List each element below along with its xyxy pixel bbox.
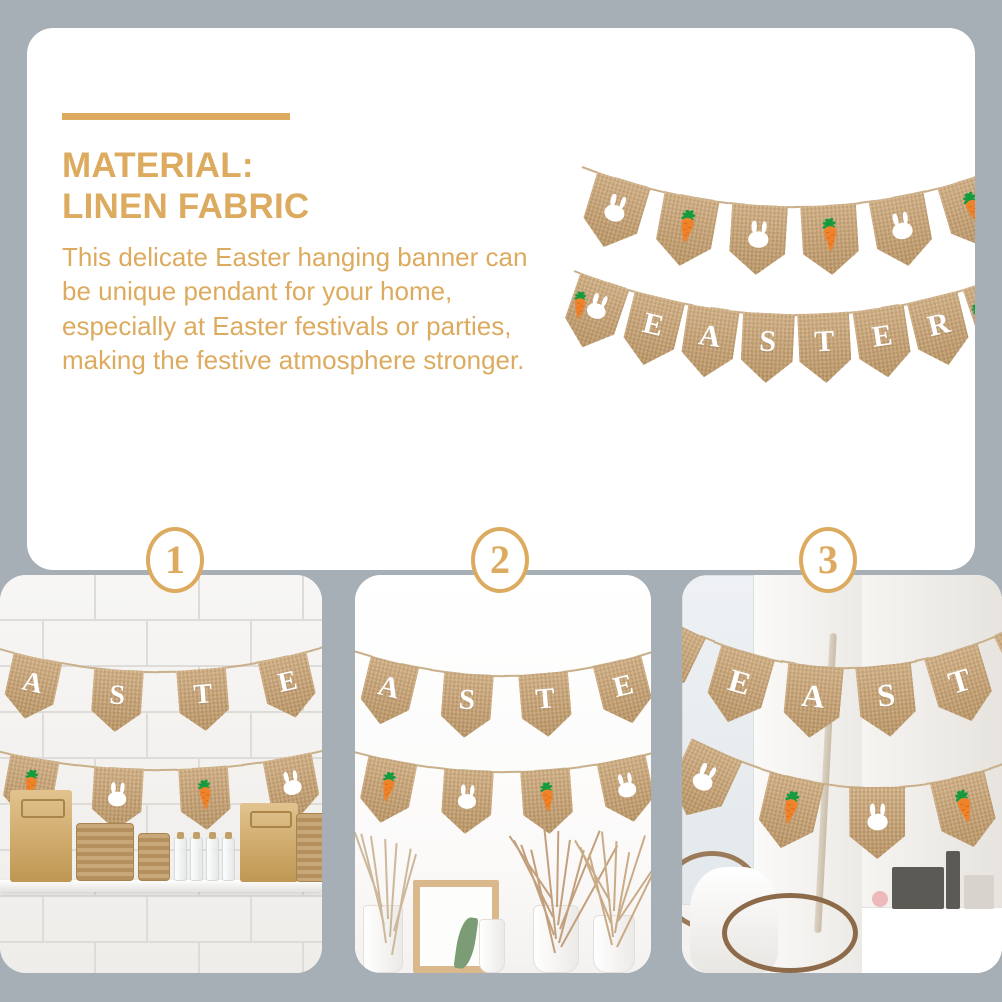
glass-jar [174,837,187,881]
bunting-flag-glyph: R [909,298,970,352]
bunting-flag-glyph: E [622,298,683,352]
dark-decor-object [892,867,944,909]
dried-branch [615,835,646,925]
gallery-panel-2: EASTER [355,575,651,973]
bunting-flag: R [907,291,974,371]
page-title: MATERIAL: LINEN FABRIC [62,146,552,228]
bunting-flag-glyph: T [798,319,852,365]
product-feature-page: MATERIAL: LINEN FABRIC This delicate Eas… [0,0,1002,1002]
hero-card: MATERIAL: LINEN FABRIC This delicate Eas… [27,28,975,570]
bunting-flag-glyph: E [853,311,911,361]
bunting-flag [800,203,860,276]
step-badge-1: 1 [146,527,204,593]
carrot-icon [674,205,700,247]
bunting-flag [652,192,720,271]
bunting-flag-glyph: A [681,311,739,361]
carrot-icon [966,297,975,334]
panel-1-shelf-props [0,575,322,973]
bunny-silhouette-icon [743,216,774,253]
wicker-basket [138,833,170,881]
step-badge-1-number: 1 [165,540,185,580]
step-badge-2-number: 2 [490,540,510,580]
bunting-flag [868,192,936,271]
gallery-panel-3: EASTE [682,575,1002,973]
bunting-flag-glyph [939,180,975,238]
panel-1-photo: EASTER [0,575,322,973]
bunting-flag: S [739,312,794,384]
bunting-flag-glyph [656,199,719,252]
hero-description: This delicate Easter hanging banner can … [62,240,552,377]
glass-jar [206,837,219,881]
panel-3-foreground-props [682,575,1002,973]
gallery-panel-1: EASTER [0,575,322,973]
glass-jar [190,837,203,881]
bunting-flag-glyph [564,280,627,338]
bunting-flag-letter: S [758,327,776,358]
bunting-flag: A [678,304,740,381]
glass-jar [222,837,235,881]
bunting-flag-letter: E [639,309,666,343]
wooden-crate [240,803,298,882]
wicker-basket [76,823,134,881]
bunting-flag-letter: E [870,320,894,353]
bunting-flag: E [618,291,685,371]
ceramic-vase [479,919,505,973]
carrot-icon [957,187,975,230]
bunting-flag-letter: T [814,327,835,358]
bunny-silhouette-icon [597,188,635,230]
easter-bunting-illustration: EASTER [582,128,975,428]
bunting-flag [728,203,788,276]
bunting-flag-glyph [729,211,788,258]
panel-2-floral-props [355,575,651,973]
rocking-chair-frame [722,893,858,973]
wooden-crate [10,790,72,882]
white-table [862,907,1002,973]
glass-jar-vase [533,905,579,973]
hero-copy-block: MATERIAL: LINEN FABRIC This delicate Eas… [62,113,552,377]
dark-decor-object [946,851,960,909]
panel-2-photo: EASTER [355,575,651,973]
bunny-silhouette-icon [884,206,919,246]
bunting-flag: E [852,304,914,381]
bunting-flag-letter: A [697,320,723,353]
bunting-flag: T [797,312,852,384]
step-badge-2: 2 [471,527,529,593]
dried-branch [556,831,559,907]
pink-egg-decor [872,891,888,907]
carrot-layer [969,297,975,334]
bunting-flag-letter: R [925,308,953,342]
bunting-flag-glyph [870,199,933,252]
bunting-flag-glyph: S [740,319,794,365]
panel-3-photo: EASTE [682,575,1002,973]
carrot-icon [819,214,840,254]
step-badge-3-number: 3 [818,540,838,580]
light-decor-object [964,875,994,909]
step-badge-3: 3 [799,527,857,593]
bunting-flag-glyph [800,211,859,258]
bunting-flag [937,172,975,255]
gold-rule-divider [62,113,290,120]
wicker-basket [296,813,322,882]
bunting-flag-glyph [583,180,649,238]
